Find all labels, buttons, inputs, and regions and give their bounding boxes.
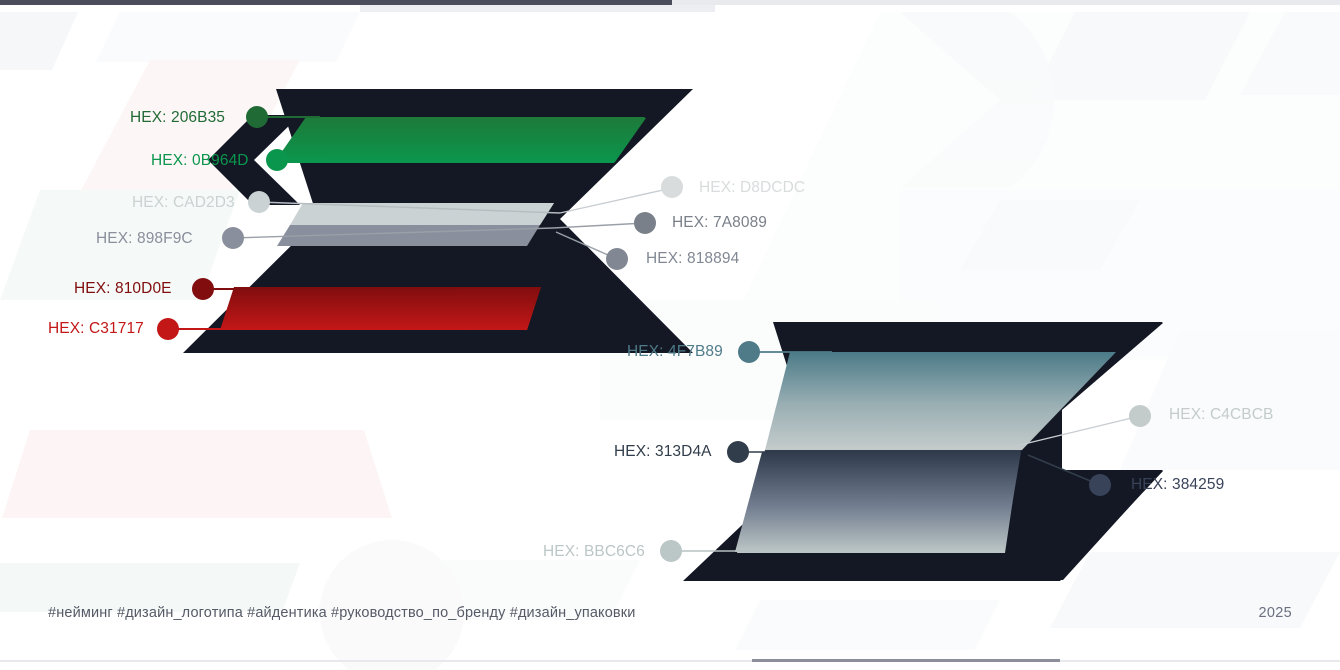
swatch-dot-313D4A bbox=[727, 441, 749, 463]
swatch-dot-206B35 bbox=[246, 106, 268, 128]
swatch-dot-BBC6C6 bbox=[660, 540, 682, 562]
primary-logo-group bbox=[0, 0, 1340, 670]
swatch-dot-818894 bbox=[606, 248, 628, 270]
swatch-label-7A8089: HEX: 7A8089 bbox=[672, 215, 767, 231]
swatch-label-4F7B89: HEX: 4F7B89 bbox=[627, 344, 723, 360]
brandbook-color-palette-slide: HEX: 206B35 HEX: 0B964D HEX: CAD2D3 HEX:… bbox=[0, 0, 1340, 670]
swatch-label-206B35: HEX: 206B35 bbox=[130, 110, 225, 126]
footer-hashtags: #нейминг #дизайн_логотипа #айдентика #ру… bbox=[48, 605, 636, 621]
swatch-dot-C31717 bbox=[157, 318, 179, 340]
swatch-label-D8DCDC: HEX: D8DCDC bbox=[699, 180, 805, 196]
swatch-label-CAD2D3: HEX: CAD2D3 bbox=[132, 195, 235, 211]
footer-year: 2025 bbox=[1259, 605, 1292, 621]
swatch-label-810D0E: HEX: 810D0E bbox=[74, 281, 172, 297]
swatch-dot-C4CBCB bbox=[1129, 405, 1151, 427]
swatch-label-898F9C: HEX: 898F9C bbox=[96, 231, 193, 247]
swatch-dot-4F7B89 bbox=[738, 341, 760, 363]
swatch-dot-D8DCDC bbox=[661, 176, 683, 198]
swatch-label-C31717: HEX: C31717 bbox=[48, 321, 144, 337]
swatch-label-313D4A: HEX: 313D4A bbox=[614, 444, 712, 460]
swatch-label-BBC6C6: HEX: BBC6C6 bbox=[543, 544, 645, 560]
swatch-dot-810D0E bbox=[192, 278, 214, 300]
swatch-label-384259: HEX: 384259 bbox=[1131, 477, 1224, 493]
swatch-label-818894: HEX: 818894 bbox=[646, 251, 739, 267]
swatch-dot-384259 bbox=[1089, 474, 1111, 496]
swatch-dot-CAD2D3 bbox=[248, 191, 270, 213]
swatch-dot-0B964D bbox=[266, 149, 288, 171]
swatch-label-0B964D: HEX: 0B964D bbox=[151, 153, 249, 169]
swatch-dot-7A8089 bbox=[634, 212, 656, 234]
swatch-label-C4CBCB: HEX: C4CBCB bbox=[1169, 407, 1273, 423]
swatch-dot-898F9C bbox=[222, 227, 244, 249]
